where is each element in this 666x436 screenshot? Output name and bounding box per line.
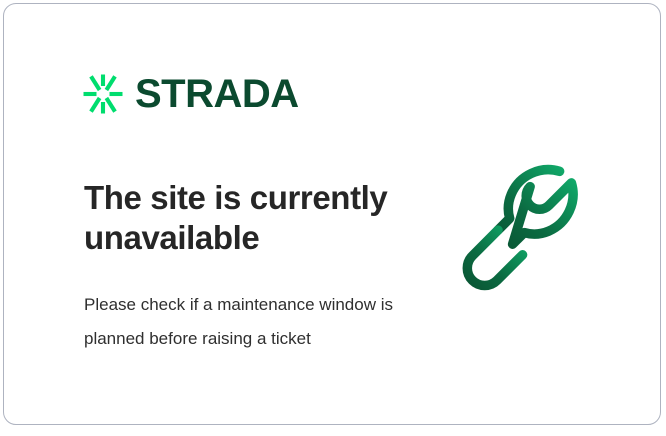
brand-lockup: STRADA bbox=[82, 73, 299, 115]
brand-wordmark: STRADA bbox=[135, 74, 299, 114]
wrench-icon bbox=[460, 159, 614, 314]
strada-asterisk-icon bbox=[82, 73, 124, 115]
status-card: STRADA The site is currently unavailable… bbox=[3, 3, 661, 425]
page-title: The site is currently unavailable bbox=[84, 178, 414, 257]
page-description: Please check if a maintenance window is … bbox=[84, 288, 394, 357]
status-page-screen: STRADA The site is currently unavailable… bbox=[0, 0, 666, 436]
